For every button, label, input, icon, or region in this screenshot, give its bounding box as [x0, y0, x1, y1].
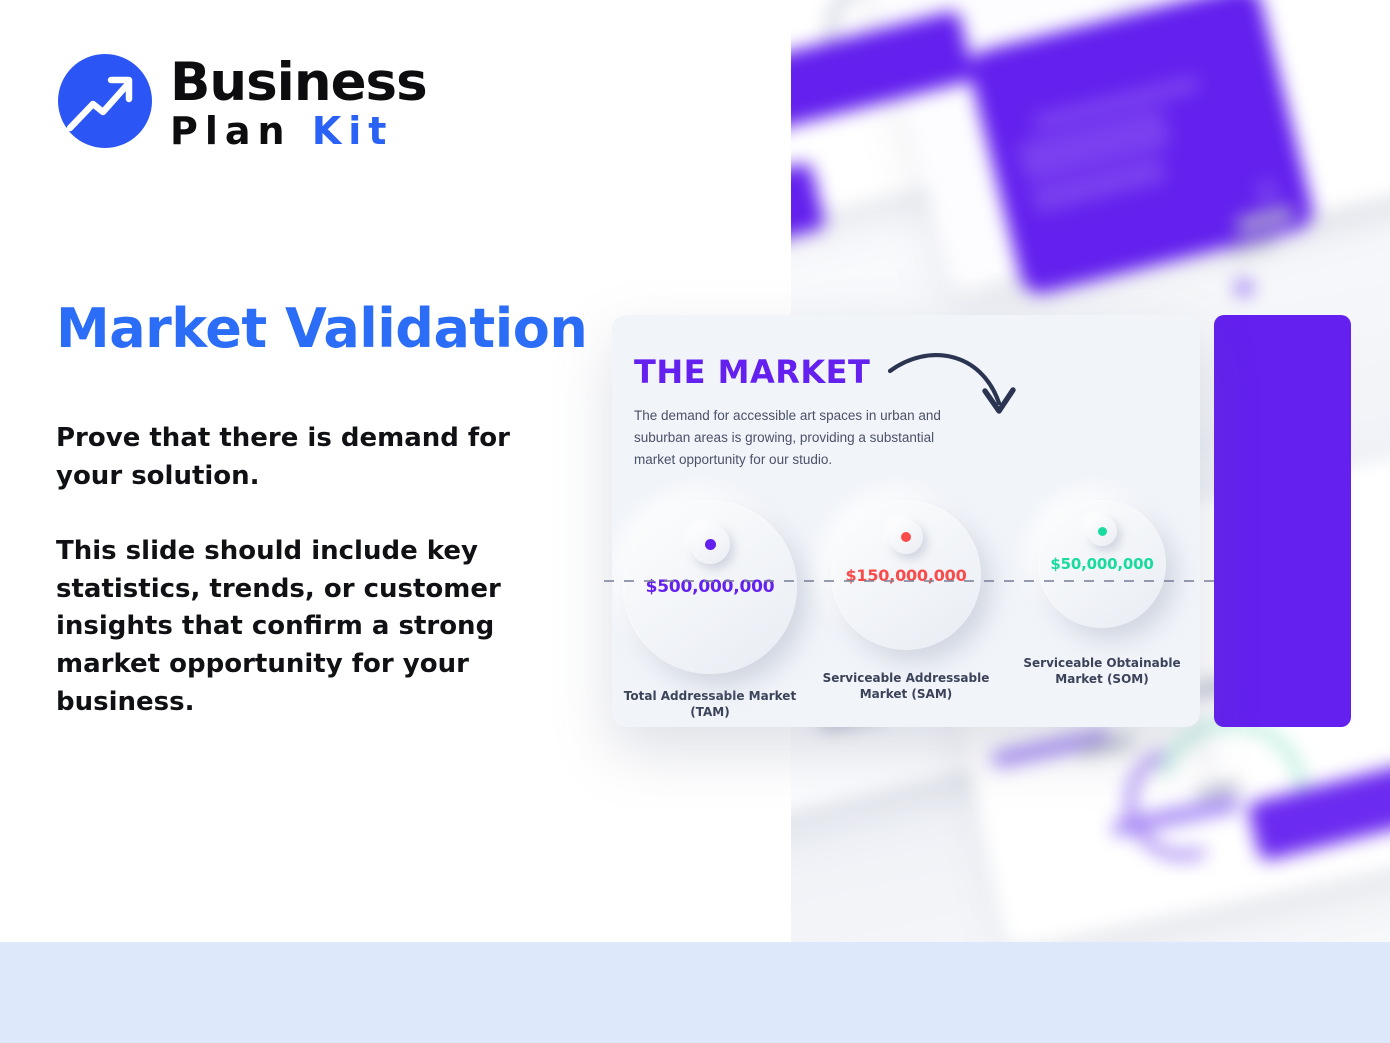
metric-dial: $500,000,000 [623, 500, 797, 674]
intro-paragraph-2: This slide should include key statistics… [56, 533, 576, 721]
metric-connector-line [604, 580, 1216, 582]
metric-label: Serviceable Obtainable Market (SOM) [1012, 655, 1192, 687]
brand-name-plan: Plan [170, 109, 292, 153]
curved-down-arrow-icon [886, 345, 1026, 440]
metric-dial: $50,000,000 [1038, 500, 1166, 628]
metric-knob [889, 520, 923, 554]
intro-paragraph-1: Prove that there is demand for your solu… [56, 420, 576, 495]
metric-label: Total Addressable Market (TAM) [620, 688, 800, 720]
indicator-dot-icon [705, 539, 716, 550]
metric-tam: $500,000,000 Total Addressable Market (T… [612, 500, 808, 720]
metric-knob [1087, 516, 1117, 546]
purple-accent-slab [1214, 315, 1351, 727]
bg-dot-icon [1236, 280, 1252, 296]
indicator-dot-icon [1098, 527, 1107, 536]
metric-dial: $150,000,000 [831, 500, 981, 650]
metric-label: Serviceable Addressable Market (SAM) [816, 670, 996, 702]
growth-arrow-circle-icon [56, 52, 154, 150]
brand-logo: Business Plan Kit [56, 52, 427, 150]
metric-knob [690, 524, 730, 564]
brand-name-kit: Kit [312, 109, 394, 153]
metric-sam: $150,000,000 Serviceable Addressable Mar… [808, 500, 1004, 720]
bg-dot-icon [1256, 180, 1278, 202]
market-card: THE MARKET The demand for accessible art… [612, 315, 1200, 727]
metric-som: $50,000,000 Serviceable Obtainable Marke… [1004, 500, 1200, 720]
bottom-color-band [0, 942, 1390, 1043]
metric-value: $50,000,000 [1050, 555, 1153, 573]
brand-name-line1: Business [170, 56, 427, 109]
market-metrics: $500,000,000 Total Addressable Market (T… [612, 500, 1200, 720]
page-title: Market Validation [56, 297, 587, 360]
indicator-dot-icon [901, 532, 911, 542]
